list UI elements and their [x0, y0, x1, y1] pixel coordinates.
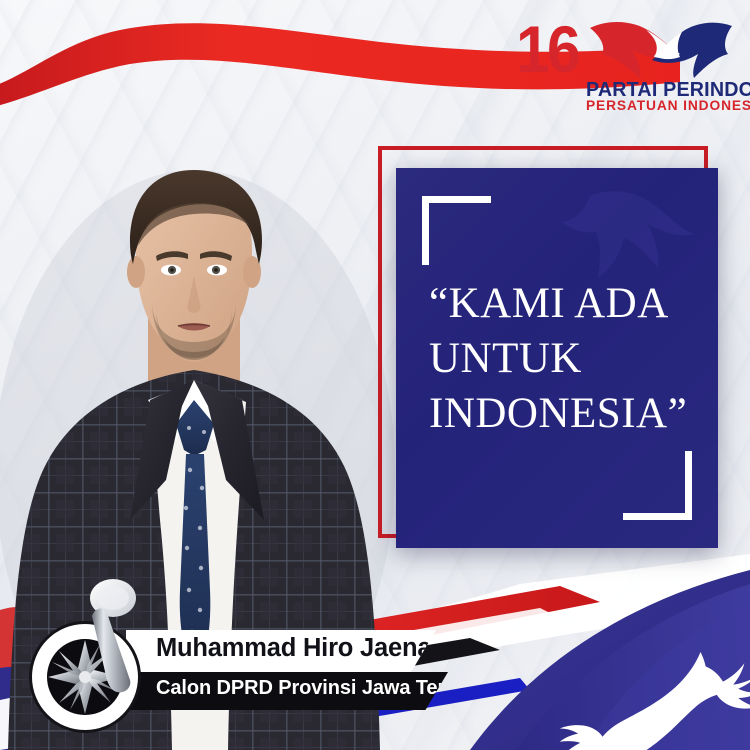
ballot-number: 16 [516, 16, 578, 82]
quote-line-2: UNTUK [429, 331, 700, 386]
microphone-icon [84, 576, 154, 696]
quote-line-1: “KAMI ADA [429, 276, 700, 331]
corner-bracket-bottom-right [623, 451, 692, 520]
candidate-name: Muhammad Hiro Jaenal [156, 634, 438, 663]
campaign-poster: “KAMI ADA UNTUK INDONESIA” 16 PARTAI PER… [0, 0, 750, 750]
party-tagline: PERSATUAN INDONESIA [586, 98, 750, 114]
candidate-position: Calon DPRD Provinsi Jawa Tengah [156, 677, 485, 700]
corner-bracket-top-left [422, 196, 491, 265]
quote-line-3: INDONESIA” [429, 386, 700, 441]
quote-text: “KAMI ADA UNTUK INDONESIA” [429, 276, 700, 441]
quote-frame: “KAMI ADA UNTUK INDONESIA” [378, 146, 708, 538]
perindo-eagle-wings-icon [588, 18, 734, 80]
quote-box: “KAMI ADA UNTUK INDONESIA” [396, 168, 718, 548]
candidate-nameplate: Muhammad Hiro Jaenal Calon DPRD Provinsi… [22, 614, 452, 736]
candidate-name-banner: Muhammad Hiro Jaenal [126, 630, 436, 672]
partai-perindo-logo: 16 PARTAI PERINDO PERSATUAN INDONESIA [510, 14, 736, 114]
candidate-role-banner: Calon DPRD Provinsi Jawa Tengah [126, 672, 448, 710]
